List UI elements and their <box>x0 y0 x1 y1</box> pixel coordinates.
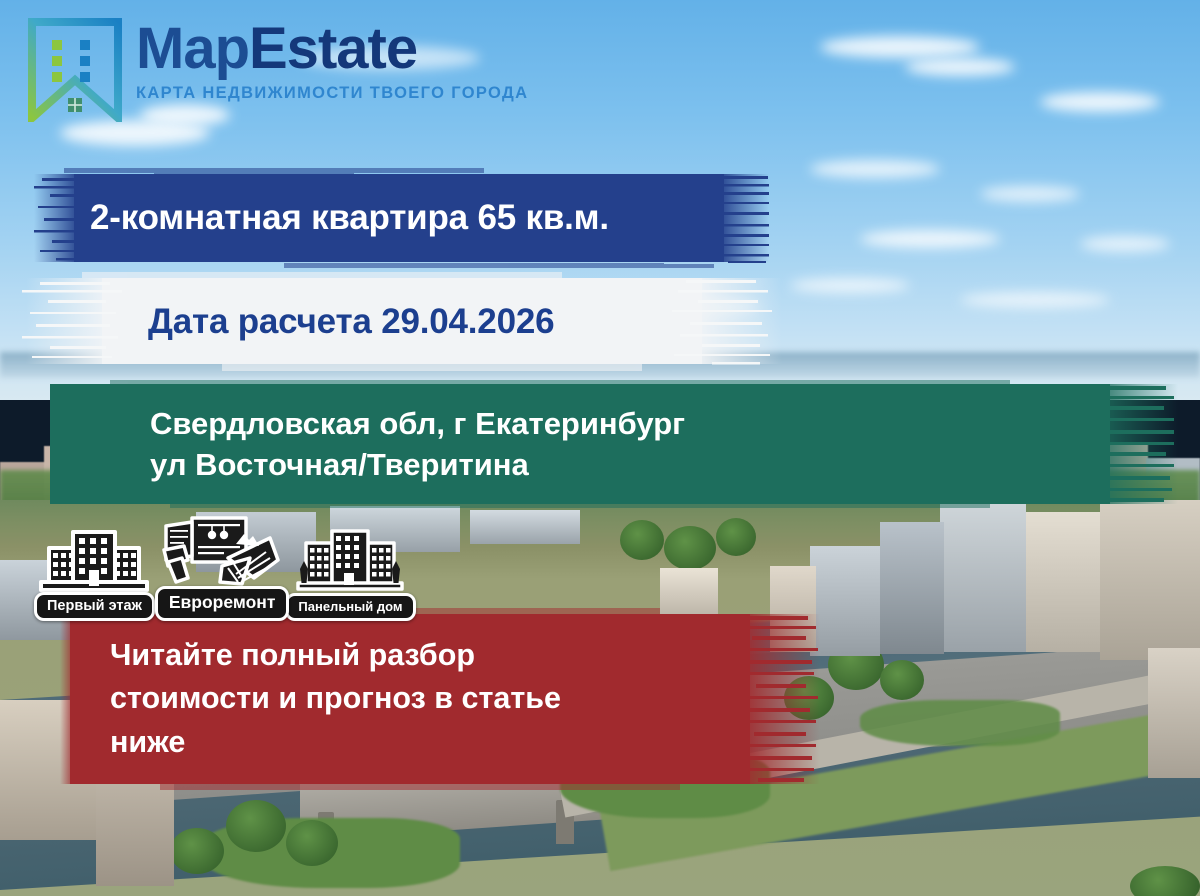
sticker-label: Евроремонт <box>155 586 290 621</box>
date-banner: Дата расчета 29.04.2026 <box>22 270 782 374</box>
apartment-building-icon <box>35 524 153 598</box>
feature-stickers: Первый этаж <box>34 512 416 621</box>
address-line-2: ул Восточная/Тверитина <box>150 444 685 485</box>
brand-name-light: Map <box>136 16 249 81</box>
sticker-panel-house[interactable]: Панельный дом <box>285 523 415 621</box>
bookmark-building-icon <box>28 18 122 122</box>
sticker-label: Первый этаж <box>34 592 155 621</box>
cta-banner[interactable]: Читайте полный разбор стоимости и прогно… <box>60 608 820 790</box>
brand-logo[interactable]: MapEstate КАРТА НЕДВИЖИМОСТИ ТВОЕГО ГОРО… <box>28 18 528 122</box>
promo-poster: MapEstate КАРТА НЕДВИЖИМОСТИ ТВОЕГО ГОРО… <box>0 0 1200 896</box>
cta-line-3: ниже <box>110 721 750 764</box>
date-text: Дата расчета 29.04.2026 <box>22 303 554 342</box>
title-banner: 2-комнатная квартира 65 кв.м. <box>34 168 769 268</box>
brand-tagline: КАРТА НЕДВИЖИМОСТИ ТВОЕГО ГОРОДА <box>136 84 528 103</box>
cta-text: Читайте полный разбор стоимости и прогно… <box>60 634 750 764</box>
panel-house-icon <box>294 523 406 599</box>
brand-name-bold: Estate <box>249 16 417 81</box>
cta-line-2: стоимости и прогноз в статье <box>110 677 750 720</box>
sticker-label: Панельный дом <box>285 593 415 621</box>
cta-line-1: Читайте полный разбор <box>110 634 750 677</box>
sticker-euro-renovation[interactable]: Евроремонт <box>155 512 290 621</box>
title-text: 2-комнатная квартира 65 кв.м. <box>34 199 609 238</box>
sticker-first-floor[interactable]: Первый этаж <box>34 524 155 621</box>
paint-roller-renovation-icon <box>158 512 286 592</box>
brand-name: MapEstate <box>136 20 528 78</box>
address-text: Свердловская обл, г Екатеринбург ул Вост… <box>50 403 685 485</box>
address-line-1: Свердловская обл, г Екатеринбург <box>150 403 685 444</box>
brand-text: MapEstate КАРТА НЕДВИЖИМОСТИ ТВОЕГО ГОРО… <box>136 18 528 103</box>
address-banner: Свердловская обл, г Екатеринбург ул Вост… <box>50 380 1178 508</box>
